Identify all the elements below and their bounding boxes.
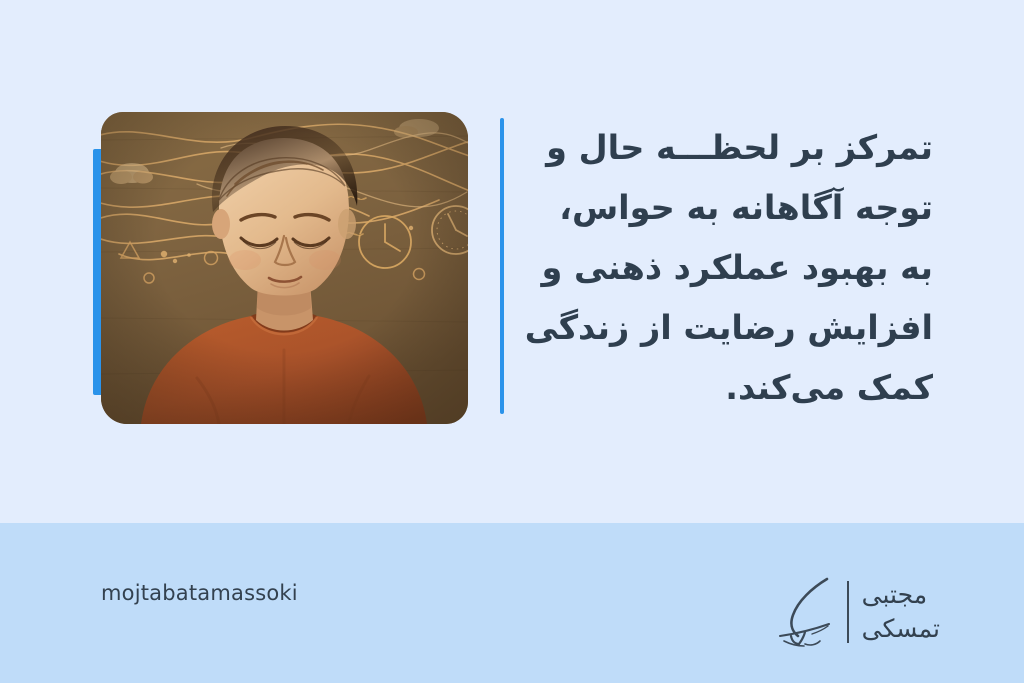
illustration-image: [101, 112, 468, 424]
quote-card: تمرکز بر لحظـــه حال و توجه آگاهانه به ح…: [0, 0, 1024, 683]
quote-block: تمرکز بر لحظـــه حال و توجه آگاهانه به ح…: [500, 118, 940, 418]
brand-lockup: مجتبی تمسکی: [772, 571, 940, 653]
brand-name: مجتبی تمسکی: [862, 578, 940, 646]
brand-name-line-2: تمسکی: [862, 612, 940, 646]
social-handle: mojtabatamassoki: [101, 581, 298, 605]
brand-divider: [847, 581, 849, 643]
quote-text: تمرکز بر لحظـــه حال و توجه آگاهانه به ح…: [518, 118, 933, 418]
brand-name-line-1: مجتبی: [862, 578, 927, 612]
calligraphic-signature-icon: [772, 574, 834, 650]
meditation-illustration-icon: [101, 112, 468, 424]
quote-accent-rule: [500, 118, 504, 414]
content-area: تمرکز بر لحظـــه حال و توجه آگاهانه به ح…: [0, 0, 1024, 523]
footer-band: mojtabatamassoki مجتبی تمسکی: [0, 523, 1024, 683]
